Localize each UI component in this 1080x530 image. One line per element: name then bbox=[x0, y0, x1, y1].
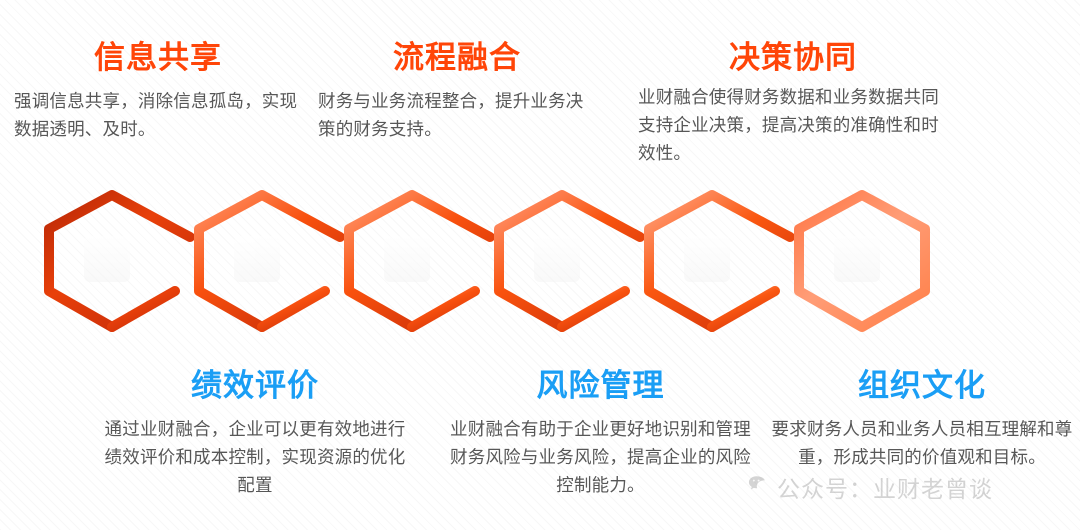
bottom-block-2: 风险管理 业财融合有助于企业更好地识别和管理财务风险与业务风险，提高企业的风险控… bbox=[443, 370, 758, 500]
bottom-block-1-body: 通过业财融合，企业可以更有效地进行绩效评价和成本控制，实现资源的优化配置 bbox=[96, 415, 414, 500]
top-block-3-title: 决策协同 bbox=[638, 42, 948, 75]
top-block-2-body: 财务与业务流程整合，提升业务决策的财务支持。 bbox=[318, 87, 596, 144]
bottom-block-2-body: 业财融合有助于企业更好地识别和管理财务风险与业务风险，提高企业的风险控制能力。 bbox=[443, 415, 758, 500]
bottom-block-3-title: 组织文化 bbox=[764, 370, 1080, 403]
bottom-block-1-title: 绩效评价 bbox=[96, 370, 414, 403]
bottom-block-3-body: 要求财务人员和业务人员相互理解和尊重，形成共同的价值观和目标。 bbox=[764, 415, 1080, 472]
top-block-2: 流程融合 财务与业务流程整合，提升业务决策的财务支持。 bbox=[318, 42, 596, 143]
top-block-1: 信息共享 强调信息共享，消除信息孤岛，实现数据透明、及时。 bbox=[14, 42, 302, 143]
top-block-1-title: 信息共享 bbox=[14, 42, 302, 75]
top-block-2-title: 流程融合 bbox=[318, 42, 596, 75]
top-block-1-body: 强调信息共享，消除信息孤岛，实现数据透明、及时。 bbox=[14, 87, 302, 144]
top-block-3-body: 业财融合使得财务数据和业务数据共同支持企业决策，提高决策的准确性和时效性。 bbox=[638, 83, 948, 168]
bottom-block-3: 组织文化 要求财务人员和业务人员相互理解和尊重，形成共同的价值观和目标。 bbox=[764, 370, 1080, 471]
watermark-text: 公众号：业财老曾谈 bbox=[777, 470, 993, 504]
watermark: 公众号：业财老曾谈 bbox=[748, 470, 993, 504]
hexagon-chain bbox=[0, 188, 1080, 348]
bottom-block-1: 绩效评价 通过业财融合，企业可以更有效地进行绩效评价和成本控制，实现资源的优化配… bbox=[96, 370, 414, 500]
top-block-3: 决策协同 业财融合使得财务数据和业务数据共同支持企业决策，提高决策的准确性和时效… bbox=[638, 42, 948, 168]
infographic-stage: 信息共享 强调信息共享，消除信息孤岛，实现数据透明、及时。 流程融合 财务与业务… bbox=[0, 0, 1080, 530]
bottom-block-2-title: 风险管理 bbox=[443, 370, 758, 403]
